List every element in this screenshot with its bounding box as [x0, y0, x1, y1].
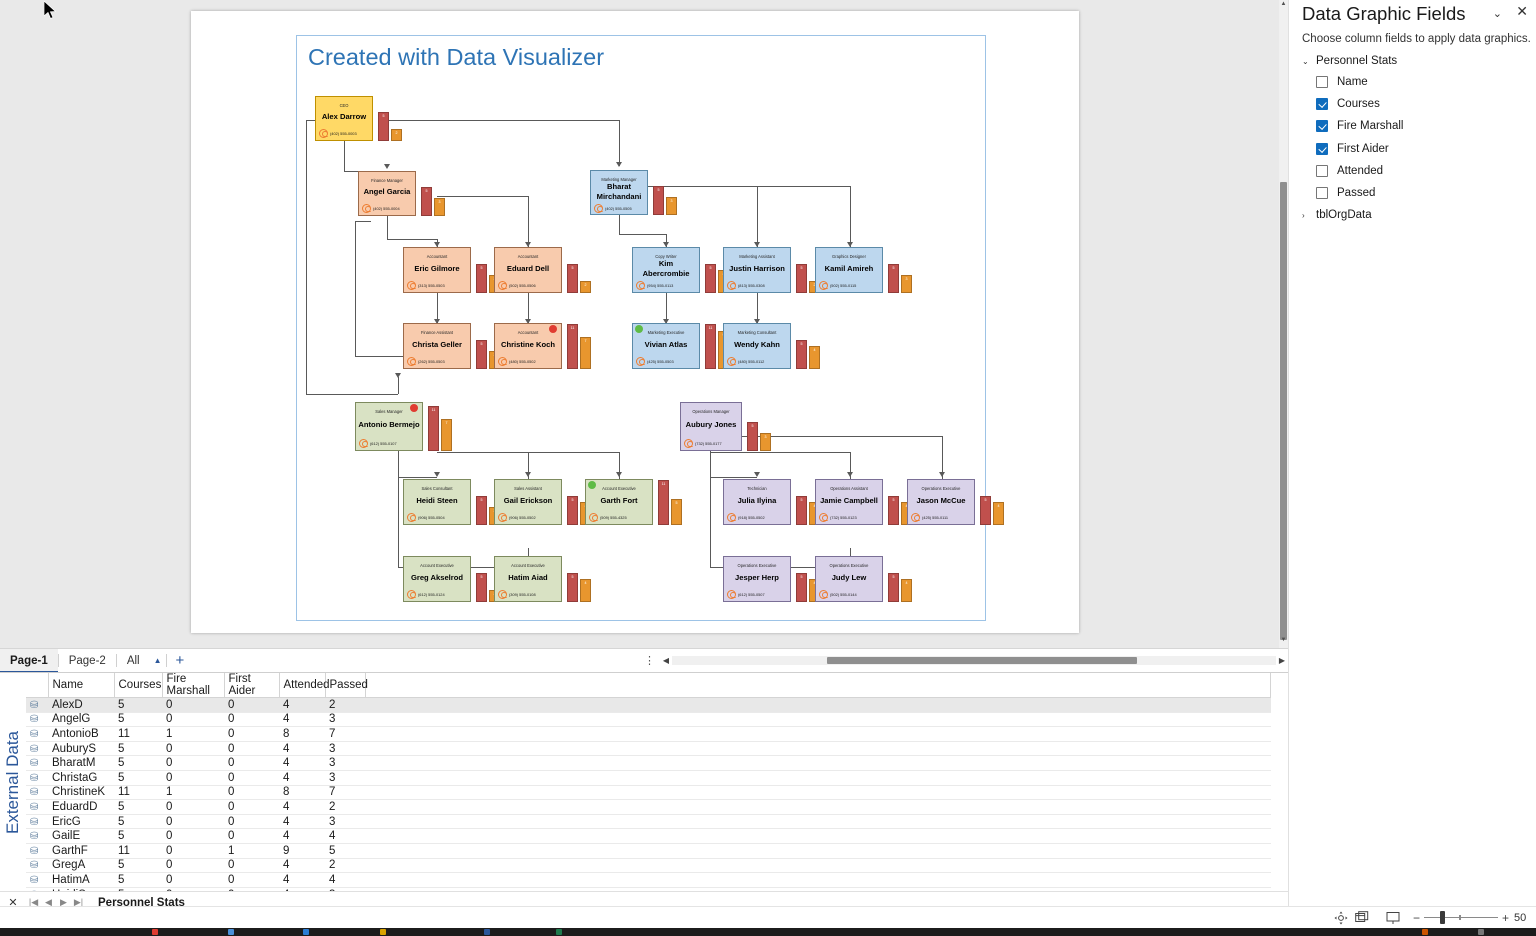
cell-filler: [365, 829, 1271, 844]
node-phone: (313) 555-0503: [404, 278, 470, 292]
taskbar-app-icon[interactable]: [303, 929, 309, 935]
phone-icon: [594, 204, 603, 213]
node-name: Aubury Jones: [681, 414, 741, 436]
page-tab-bar[interactable]: Page-1 Page-2 All ▲ + ⋮ ◀ ▶: [0, 648, 1288, 672]
table-row[interactable]: ⛁AngelG50043: [26, 712, 1271, 727]
cell-filler: [365, 814, 1271, 829]
taskbar-app-icon[interactable]: [380, 929, 386, 935]
bar-passed: 3: [666, 197, 677, 215]
org-node-hatima[interactable]: Account Executive Hatim Aiad (309) 555-0…: [494, 556, 562, 602]
node-name: Judy Lew: [816, 568, 882, 587]
cell-courses[interactable]: 5: [114, 698, 162, 713]
data-bars-angelg: 5 3: [421, 187, 445, 216]
phone-icon: [407, 590, 416, 599]
close-icon[interactable]: ✕: [1516, 3, 1528, 20]
connector: [355, 221, 356, 356]
connector: [437, 452, 528, 453]
page-sheet[interactable]: Created with Data Visualizer: [191, 11, 1079, 633]
cell-first-aider[interactable]: 0: [224, 756, 279, 771]
cell-fire-marshall[interactable]: 0: [162, 770, 224, 785]
cell-name[interactable]: GarthF: [48, 843, 114, 858]
node-name: Kamil Amireh: [816, 259, 882, 278]
cell-fire-marshall[interactable]: 0: [162, 829, 224, 844]
cell-courses[interactable]: 5: [114, 829, 162, 844]
phone-icon: [362, 204, 371, 213]
mouse-cursor-icon: [44, 1, 58, 21]
cell-first-aider[interactable]: 1: [224, 843, 279, 858]
node-role: Account Executive: [495, 557, 561, 568]
bar-courses: 5: [747, 422, 758, 451]
node-role: Technician: [724, 480, 790, 491]
cell-first-aider[interactable]: 0: [224, 829, 279, 844]
node-role: Operations Executive: [908, 480, 974, 491]
bar-courses: 5: [980, 496, 991, 525]
cell-name[interactable]: GregA: [48, 858, 114, 873]
col-header-filler: [365, 673, 1271, 698]
cell-passed[interactable]: 3: [325, 756, 365, 771]
org-node-auburys[interactable]: Operations Manager Aubury Jones (732) 55…: [680, 402, 742, 451]
bar-courses: 11: [658, 480, 669, 525]
node-role: CEO: [316, 97, 372, 108]
phone-icon: [407, 357, 416, 366]
node-name: Eduard Dell: [495, 259, 561, 278]
cell-courses[interactable]: 5: [114, 800, 162, 815]
node-name: Justin Harrison: [724, 259, 790, 278]
bar-courses: 5: [796, 340, 807, 369]
phone-icon: [911, 513, 920, 522]
scroll-down-icon[interactable]: ▼: [1279, 636, 1288, 645]
field-label: Fire Marshall: [1337, 120, 1403, 132]
cell-name[interactable]: EduardD: [48, 800, 114, 815]
field-group-label: Personnel Stats: [1316, 55, 1397, 67]
org-node-jasonm[interactable]: Operations Executive Jason McCue (425) 5…: [907, 479, 975, 525]
fire-marshall-dot-icon: [549, 325, 557, 333]
org-node-bharatm[interactable]: Marketing Manager Bharat Mirchandani (40…: [590, 170, 648, 215]
cell-passed[interactable]: 5: [325, 843, 365, 858]
cell-courses[interactable]: 5: [114, 741, 162, 756]
field-checkbox-fire-marshall[interactable]: Fire Marshall: [1316, 120, 1403, 132]
cell-attended[interactable]: 4: [279, 741, 325, 756]
cell-courses[interactable]: 5: [114, 712, 162, 727]
page-tab-page-1[interactable]: Page-1: [0, 649, 58, 673]
connector: [398, 477, 399, 567]
cell-courses[interactable]: 5: [114, 770, 162, 785]
external-data-pane: External Data Name Courses Fire Marshall…: [0, 672, 1288, 912]
cell-fire-marshall[interactable]: 0: [162, 873, 224, 888]
node-name: Eric Gilmore: [404, 259, 470, 278]
bar-courses: 5: [796, 496, 807, 525]
cell-courses[interactable]: 5: [114, 814, 162, 829]
cell-fire-marshall[interactable]: 1: [162, 785, 224, 800]
scroll-up-icon[interactable]: ▲: [1279, 0, 1288, 9]
node-phone: (402) 555-0505: [591, 202, 647, 214]
org-node-christag[interactable]: Finance Assistant Christa Geller (262) 5…: [403, 323, 471, 369]
cell-filler: [365, 770, 1271, 785]
table-row[interactable]: ⛁BharatM50043: [26, 756, 1271, 771]
field-checkbox-courses[interactable]: Courses: [1316, 98, 1380, 110]
cell-attended[interactable]: 4: [279, 712, 325, 727]
table-row[interactable]: ⛁ChristaG50043: [26, 770, 1271, 785]
row-link-icon: ⛁: [26, 756, 48, 771]
cell-name[interactable]: AngelG: [48, 712, 114, 727]
node-name: Jason McCue: [908, 491, 974, 510]
connector: [528, 452, 619, 453]
col-header-attended[interactable]: Attended: [279, 673, 325, 698]
zoom-in-button[interactable]: +: [1502, 911, 1509, 925]
field-group-tblorgdata[interactable]: › tblOrgData: [1302, 209, 1372, 221]
cell-courses[interactable]: 11: [114, 785, 162, 800]
node-role: Account Executive: [404, 557, 470, 568]
connector: [619, 212, 620, 234]
cell-fire-marshall[interactable]: 0: [162, 698, 224, 713]
checkbox-icon[interactable]: [1316, 143, 1328, 155]
node-role: Accountant: [495, 248, 561, 259]
zoom-slider-midpoint: [1459, 915, 1461, 920]
connector: [398, 477, 437, 478]
page-title: Created with Data Visualizer: [308, 44, 604, 71]
chevron-down-icon[interactable]: ⌄: [1493, 7, 1502, 20]
cell-attended[interactable]: 4: [279, 800, 325, 815]
org-node-gaile[interactable]: Sales Assistant Gail Erickson (906) 555-…: [494, 479, 562, 525]
field-label: Passed: [1337, 187, 1375, 199]
checkbox-icon[interactable]: [1316, 120, 1328, 132]
cell-name[interactable]: BharatM: [48, 756, 114, 771]
phone-icon: [727, 513, 736, 522]
node-phone: (502) 555-0115: [816, 278, 882, 292]
node-phone: (612) 555-0107: [356, 436, 422, 450]
org-node-kamila[interactable]: Graphics Designer Kamil Amireh (502) 555…: [815, 247, 883, 293]
org-node-heidis[interactable]: Sales Consultant Heidi Steen (906) 555-0…: [403, 479, 471, 525]
hscroll-track[interactable]: [672, 656, 1276, 665]
phone-icon: [684, 439, 693, 448]
cell-attended[interactable]: 4: [279, 770, 325, 785]
phone-icon: [498, 281, 507, 290]
row-link-icon: ⛁: [26, 873, 48, 888]
cell-fire-marshall[interactable]: 0: [162, 800, 224, 815]
cell-passed[interactable]: 7: [325, 727, 365, 742]
node-name: Christine Koch: [495, 335, 561, 354]
bar-courses: 5: [653, 186, 664, 215]
connector: [710, 477, 711, 567]
phone-icon: [319, 129, 328, 138]
hscroll-thumb[interactable]: [827, 657, 1137, 664]
bar-passed: 4: [809, 346, 820, 369]
cell-fire-marshall[interactable]: 1: [162, 727, 224, 742]
org-node-jesperh[interactable]: Operations Executive Jesper Herp (612) 5…: [723, 556, 791, 602]
cell-name[interactable]: ChristineK: [48, 785, 114, 800]
cell-filler: [365, 698, 1271, 713]
data-bars-bharatm: 5 3: [653, 186, 677, 215]
cell-courses[interactable]: 5: [114, 756, 162, 771]
page-tab-all[interactable]: All: [117, 649, 150, 673]
table-row[interactable]: ⛁GarthF110195: [26, 843, 1271, 858]
taskbar-app-icon[interactable]: [1478, 929, 1484, 935]
connector-arrow: [434, 472, 440, 477]
connector: [344, 141, 345, 171]
cell-filler: [365, 873, 1271, 888]
bar-passed: 7: [580, 337, 591, 369]
cell-name[interactable]: AlexD: [48, 698, 114, 713]
taskbar-app-icon[interactable]: [152, 929, 158, 935]
cell-attended[interactable]: 4: [279, 829, 325, 844]
node-phone: (918) 555-0502: [724, 510, 790, 524]
bar-courses: 5: [796, 264, 807, 293]
node-name: Heidi Steen: [404, 491, 470, 510]
cell-name[interactable]: HatimA: [48, 873, 114, 888]
bar-passed: 4: [901, 579, 912, 602]
node-phone: (509) 555-4325: [586, 510, 652, 524]
tab-caret-up-icon[interactable]: ▲: [150, 656, 166, 665]
org-node-jamiec[interactable]: Operations Assistant Jamie Campbell (732…: [815, 479, 883, 525]
cell-courses[interactable]: 11: [114, 727, 162, 742]
data-bars-auburys: 5 3: [747, 422, 771, 451]
page-tab-page-2[interactable]: Page-2: [59, 649, 116, 673]
cell-passed[interactable]: 3: [325, 741, 365, 756]
cell-fire-marshall[interactable]: 0: [162, 843, 224, 858]
bar-passed: 3: [901, 275, 912, 293]
org-node-angelg[interactable]: Finance Manager Angel Garcia (402) 555-0…: [358, 171, 416, 216]
connector: [757, 186, 758, 247]
node-phone: (425) 555-0111: [908, 510, 974, 524]
cell-first-aider[interactable]: 0: [224, 727, 279, 742]
connector: [306, 120, 307, 394]
field-group-label: tblOrgData: [1316, 209, 1372, 221]
zoom-slider-thumb[interactable]: [1440, 911, 1445, 924]
switch-window-icon[interactable]: [1355, 911, 1369, 925]
cell-courses[interactable]: 11: [114, 843, 162, 858]
bar-courses: 5: [421, 187, 432, 216]
cell-fire-marshall[interactable]: 0: [162, 741, 224, 756]
table-row[interactable]: ⛁GailE50044: [26, 829, 1271, 844]
phone-icon: [727, 281, 736, 290]
cell-first-aider[interactable]: 0: [224, 712, 279, 727]
bar-courses: 5: [476, 496, 487, 525]
add-page-button[interactable]: +: [167, 652, 194, 669]
taskbar-app-icon[interactable]: [228, 929, 234, 935]
taskbar-app-icon[interactable]: [484, 929, 490, 935]
cell-attended[interactable]: 9: [279, 843, 325, 858]
phone-icon: [589, 513, 598, 522]
cell-name[interactable]: ChristaG: [48, 770, 114, 785]
cell-passed[interactable]: 4: [325, 873, 365, 888]
connector: [387, 239, 437, 240]
cell-first-aider[interactable]: 0: [224, 741, 279, 756]
field-checkbox-attended[interactable]: Attended: [1316, 165, 1383, 177]
cell-fire-marshall[interactable]: 0: [162, 756, 224, 771]
cell-filler: [365, 843, 1271, 858]
bar-courses: 5: [567, 496, 578, 525]
cell-passed[interactable]: 2: [325, 858, 365, 873]
connector-arrow: [616, 162, 622, 167]
field-label: First Aider: [1337, 143, 1389, 155]
canvas-horizontal-scrollbar[interactable]: ◀ ▶: [660, 655, 1288, 666]
cell-passed[interactable]: 7: [325, 785, 365, 800]
node-name: Bharat Mirchandani: [591, 182, 647, 202]
cell-first-aider[interactable]: 0: [224, 858, 279, 873]
cell-courses[interactable]: 5: [114, 858, 162, 873]
row-link-icon: ⛁: [26, 814, 48, 829]
cell-attended[interactable]: 8: [279, 727, 325, 742]
phone-icon: [498, 357, 507, 366]
canvas-vertical-scrollbar[interactable]: ▲ ▼: [1279, 0, 1288, 648]
table-row[interactable]: ⛁GregA50042: [26, 858, 1271, 873]
node-phone: (612) 555-0507: [724, 587, 790, 601]
field-checkbox-passed[interactable]: Passed: [1316, 187, 1375, 199]
cell-first-aider[interactable]: 0: [224, 873, 279, 888]
col-header-rowicon: [26, 673, 48, 698]
col-header-first-aider[interactable]: First Aider: [224, 673, 279, 698]
org-node-eduardd[interactable]: Accountant Eduard Dell (502) 555-0506: [494, 247, 562, 293]
cell-name[interactable]: GailE: [48, 829, 114, 844]
cell-attended[interactable]: 4: [279, 756, 325, 771]
node-role: Operations Executive: [724, 557, 790, 568]
node-role: Sales Assistant: [495, 480, 561, 491]
cell-attended[interactable]: 4: [279, 814, 325, 829]
cell-attended[interactable]: 4: [279, 858, 325, 873]
phone-icon: [498, 590, 507, 599]
table-row[interactable]: ⛁HatimA50044: [26, 873, 1271, 888]
connector: [398, 377, 399, 394]
connector-arrow: [525, 472, 531, 477]
org-node-juliai[interactable]: Technician Julia Ilyina (918) 555-0502: [723, 479, 791, 525]
table-row[interactable]: ⛁AlexD50042: [26, 698, 1271, 713]
bar-passed: 3: [760, 433, 771, 451]
panel-title: Data Graphic Fields: [1302, 3, 1465, 25]
pan-zoom-icon[interactable]: [1334, 911, 1348, 925]
cell-attended[interactable]: 8: [279, 785, 325, 800]
org-node-judyl[interactable]: Operations Executive Judy Lew (502) 555-…: [815, 556, 883, 602]
drawing-canvas[interactable]: Created with Data Visualizer: [0, 0, 1288, 648]
data-bars-hatima: 5 4: [567, 573, 591, 602]
cell-filler: [365, 756, 1271, 771]
cell-first-aider[interactable]: 0: [224, 785, 279, 800]
zoom-slider-track[interactable]: [1424, 917, 1498, 918]
cell-fire-marshall[interactable]: 0: [162, 858, 224, 873]
cell-courses[interactable]: 5: [114, 873, 162, 888]
external-data-grid[interactable]: Name Courses Fire Marshall First Aider A…: [26, 673, 1280, 891]
connector-arrow: [616, 472, 622, 477]
bar-courses: 5: [796, 573, 807, 602]
cell-passed[interactable]: 4: [325, 829, 365, 844]
cell-passed[interactable]: 2: [325, 800, 365, 815]
org-node-kima[interactable]: Copy Writer Kim Abercrombie (954) 555-01…: [632, 247, 700, 293]
tab-overflow-menu[interactable]: ⋮: [644, 654, 660, 667]
node-name: Greg Akselrod: [404, 568, 470, 587]
cell-passed[interactable]: 3: [325, 770, 365, 785]
col-header-fire-marshall[interactable]: Fire Marshall: [162, 673, 224, 698]
cell-passed[interactable]: 3: [325, 712, 365, 727]
row-link-icon: ⛁: [26, 741, 48, 756]
scroll-left-icon[interactable]: ◀: [660, 656, 672, 665]
bar-passed: 2: [391, 129, 402, 141]
node-name: Angel Garcia: [359, 183, 415, 201]
node-name: Kim Abercrombie: [633, 259, 699, 279]
cell-first-aider[interactable]: 0: [224, 770, 279, 785]
cell-filler: [365, 741, 1271, 756]
cell-filler: [365, 858, 1271, 873]
data-bars-wendyk: 5 4: [796, 340, 820, 369]
zoom-level-label[interactable]: 50: [1514, 912, 1526, 924]
table-row[interactable]: ⛁EduardD50042: [26, 800, 1271, 815]
col-header-passed[interactable]: Passed: [325, 673, 365, 698]
bar-courses: 5: [705, 264, 716, 293]
field-group-personnel-stats[interactable]: ⌄ Personnel Stats: [1302, 55, 1397, 67]
node-phone: (813) 555-0308: [724, 278, 790, 292]
phone-icon: [819, 513, 828, 522]
row-link-icon: ⛁: [26, 712, 48, 727]
table-row[interactable]: ⛁ChristineK111087: [26, 785, 1271, 800]
field-checkbox-first-aider[interactable]: First Aider: [1316, 143, 1389, 155]
zoom-out-button[interactable]: −: [1413, 911, 1420, 925]
org-node-ericg[interactable]: Accountant Eric Gilmore (313) 555-0503: [403, 247, 471, 293]
checkbox-icon[interactable]: [1316, 76, 1328, 88]
bar-courses: 11: [567, 324, 578, 369]
org-node-justinh[interactable]: Marketing Assistant Justin Harrison (813…: [723, 247, 791, 293]
connector-arrow: [384, 164, 390, 169]
checkbox-icon[interactable]: [1316, 165, 1328, 177]
table-row[interactable]: ⛁AuburyS50043: [26, 741, 1271, 756]
field-checkbox-name[interactable]: Name: [1316, 76, 1368, 88]
cell-filler: [365, 800, 1271, 815]
cell-first-aider[interactable]: 0: [224, 814, 279, 829]
taskbar-app-icon[interactable]: [556, 929, 562, 935]
node-role: Operations Assistant: [816, 480, 882, 491]
node-phone: (425) 555-0503: [633, 354, 699, 368]
cell-name[interactable]: AntonioB: [48, 727, 114, 742]
cell-passed[interactable]: 2: [325, 698, 365, 713]
cell-fire-marshall[interactable]: 0: [162, 712, 224, 727]
cell-first-aider[interactable]: 0: [224, 800, 279, 815]
phone-icon: [819, 281, 828, 290]
canvas-scroll-thumb[interactable]: [1280, 182, 1287, 640]
node-phone: (502) 555-0506: [495, 278, 561, 292]
cell-name[interactable]: AuburyS: [48, 741, 114, 756]
org-node-wendyk[interactable]: Marketing Consultant Wendy Kahn (480) 55…: [723, 323, 791, 369]
checkbox-icon[interactable]: [1316, 187, 1328, 199]
checkbox-icon[interactable]: [1316, 98, 1328, 110]
cell-name[interactable]: EricG: [48, 814, 114, 829]
node-name: Garth Fort: [586, 491, 652, 510]
external-data-pane-label: External Data: [0, 673, 26, 891]
node-role: Marketing Assistant: [724, 248, 790, 259]
node-role: Copy Writer: [633, 248, 699, 259]
table-row[interactable]: ⛁AntonioB111087: [26, 727, 1271, 742]
cell-fire-marshall[interactable]: 0: [162, 814, 224, 829]
row-link-icon: ⛁: [26, 698, 48, 713]
taskbar-app-icon[interactable]: [1422, 929, 1428, 935]
table-header-row: Name Courses Fire Marshall First Aider A…: [26, 673, 1271, 698]
table-row[interactable]: ⛁EricG50043: [26, 814, 1271, 829]
col-header-name[interactable]: Name: [48, 673, 114, 698]
cell-attended[interactable]: 4: [279, 873, 325, 888]
cell-passed[interactable]: 3: [325, 814, 365, 829]
scroll-right-icon[interactable]: ▶: [1276, 656, 1288, 665]
org-node-alexd[interactable]: CEO Alex Darrow (402) 555-0003: [315, 96, 373, 141]
data-bars-judyl: 5 4: [888, 573, 912, 602]
os-taskbar[interactable]: [0, 928, 1536, 936]
row-link-icon: ⛁: [26, 858, 48, 873]
org-node-grega[interactable]: Account Executive Greg Akselrod (612) 55…: [403, 556, 471, 602]
bar-courses: 5: [476, 264, 487, 293]
cell-first-aider[interactable]: 0: [224, 698, 279, 713]
phone-icon: [498, 513, 507, 522]
col-header-courses[interactable]: Courses: [114, 673, 162, 698]
node-name: Julia Ilyina: [724, 491, 790, 510]
presentation-icon[interactable]: [1386, 911, 1400, 925]
phone-icon: [407, 513, 416, 522]
chevron-down-icon: ⌄: [1302, 57, 1310, 66]
cell-attended[interactable]: 4: [279, 698, 325, 713]
